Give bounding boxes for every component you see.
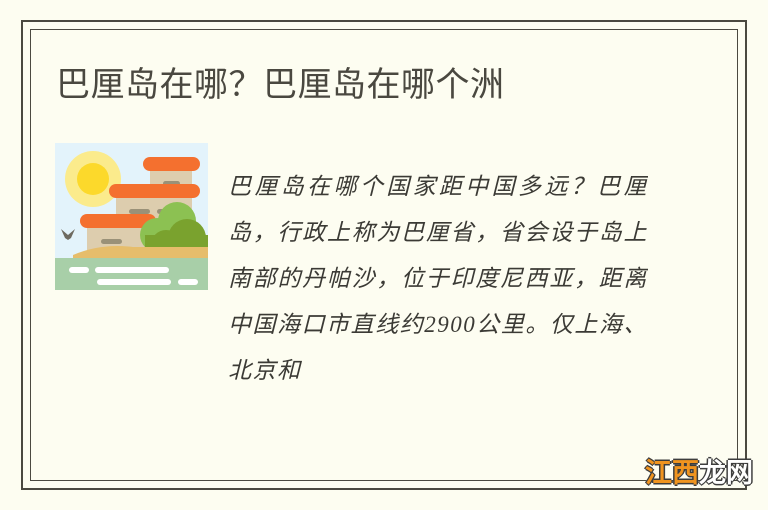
- article-body-text: 巴厘岛在哪个国家距中国多远？巴厘岛，行政上称为巴厘省，省会设于岛上南部的丹帕沙，…: [228, 164, 648, 396]
- temple-tier-mid-roof: [109, 184, 200, 198]
- temple-tier-mid-window-left: [129, 209, 150, 214]
- watermark-gray-text: 龙网: [699, 457, 753, 489]
- temple-tier-low-window: [101, 239, 122, 244]
- wave-line-3: [97, 279, 171, 285]
- temple-tier-top-roof: [143, 157, 200, 171]
- page-root: 巴厘岛在哪？巴厘岛在哪个洲: [0, 0, 768, 510]
- watermark-orange-text: 江西: [645, 457, 699, 489]
- bali-temple-illustration: [55, 143, 208, 290]
- site-watermark: 江西龙网: [645, 457, 753, 489]
- page-title: 巴厘岛在哪？巴厘岛在哪个洲: [56, 62, 706, 108]
- wave-line-2: [95, 267, 169, 273]
- wave-line-4: [178, 279, 198, 285]
- water-rect: [55, 258, 208, 290]
- wave-line-1: [69, 267, 89, 273]
- sun-core-circle: [77, 163, 109, 195]
